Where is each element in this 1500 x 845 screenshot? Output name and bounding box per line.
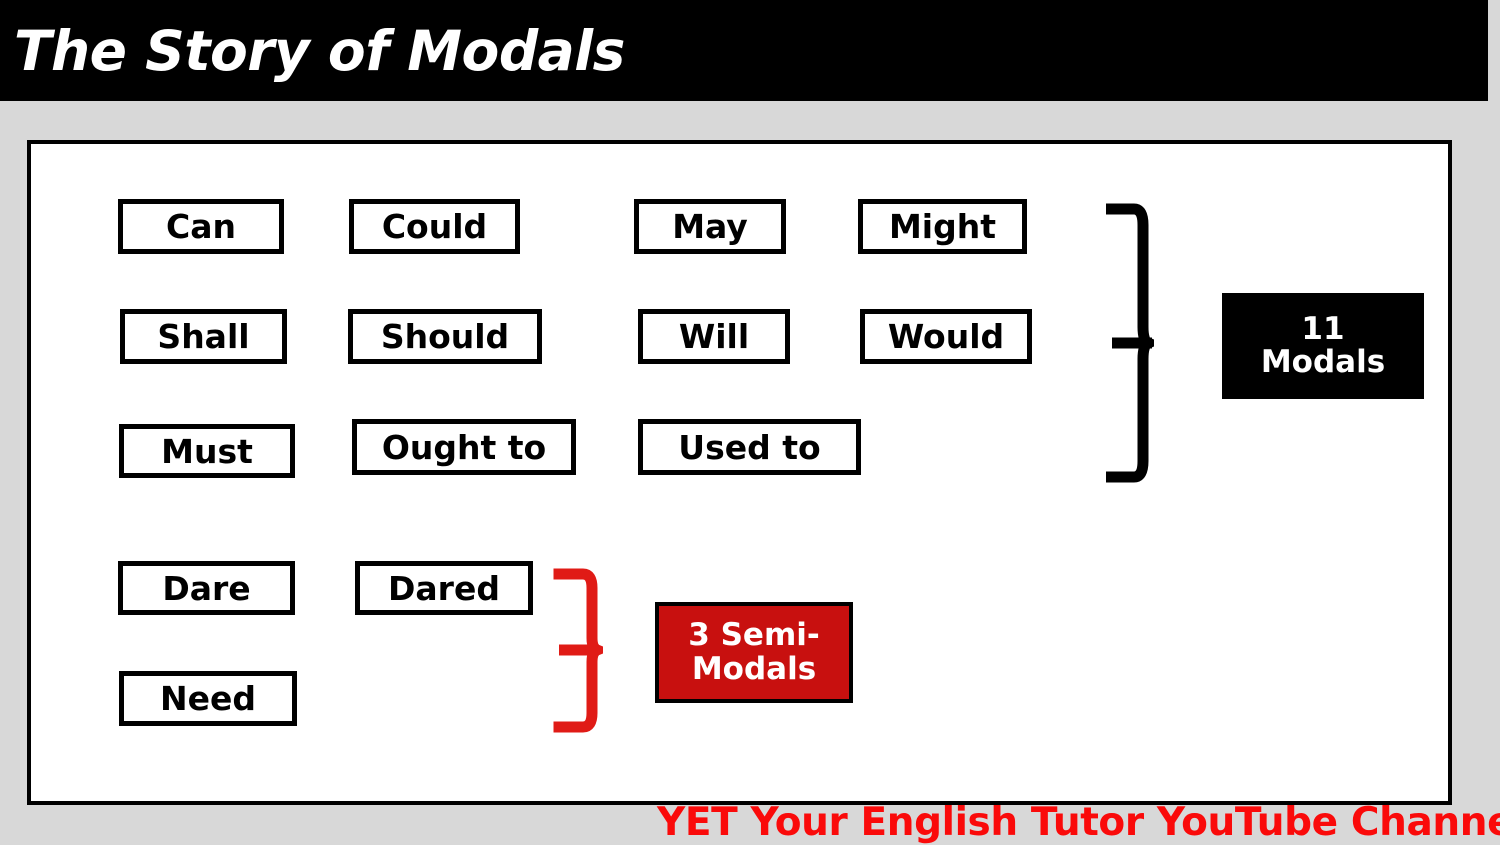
channel-credit-text: YET Your English Tutor YouTube Channel [657, 801, 1500, 844]
modal-box-label: Can [166, 210, 236, 243]
modal-box-label: Used to [678, 431, 820, 464]
semi-modal-count-line-2: Modals [692, 653, 816, 686]
modal-box-shall: Shall [120, 309, 287, 364]
curly-brace-semi-modals-icon [553, 568, 603, 733]
modal-box-dared: Dared [355, 561, 533, 615]
modal-box-can: Can [118, 199, 284, 254]
modal-box-label: Dared [388, 572, 500, 605]
modal-box-would: Would [860, 309, 1032, 364]
modal-box-will: Will [638, 309, 790, 364]
modal-box-label: Could [382, 210, 487, 243]
modal-box-label: Might [889, 210, 996, 243]
modal-box-ought-to: Ought to [352, 419, 576, 475]
modal-box-must: Must [119, 424, 295, 478]
modal-box-label: Dare [162, 572, 250, 605]
modal-count-line-1: 11 [1301, 313, 1344, 346]
modal-box-may: May [634, 199, 786, 254]
modal-box-label: Ought to [382, 431, 546, 464]
modal-box-used-to: Used to [638, 419, 861, 475]
modal-box-label: Will [679, 320, 749, 353]
modal-box-might: Might [858, 199, 1027, 254]
modal-box-label: Must [161, 435, 253, 468]
semi-modal-count-badge: 3 Semi- Modals [655, 602, 853, 703]
title-banner: The Story of Modals [0, 0, 1488, 101]
modal-box-label: Should [381, 320, 509, 353]
slide-content-frame: CanCouldMayMightShallShouldWillWouldMust… [27, 140, 1452, 805]
semi-modal-count-line-1: 3 Semi- [688, 619, 820, 652]
modal-box-label: May [672, 210, 748, 243]
page-title: The Story of Modals [14, 14, 625, 88]
curly-brace-modals-icon [1106, 203, 1154, 483]
modal-box-label: Shall [157, 320, 249, 353]
modal-box-label: Would [888, 320, 1004, 353]
modal-box-need: Need [119, 671, 297, 726]
modal-count-badge: 11 Modals [1222, 293, 1424, 399]
modal-count-line-2: Modals [1261, 346, 1385, 379]
modal-box-could: Could [349, 199, 520, 254]
modal-box-label: Need [160, 682, 256, 715]
modal-box-dare: Dare [118, 561, 295, 615]
modal-box-should: Should [348, 309, 542, 364]
